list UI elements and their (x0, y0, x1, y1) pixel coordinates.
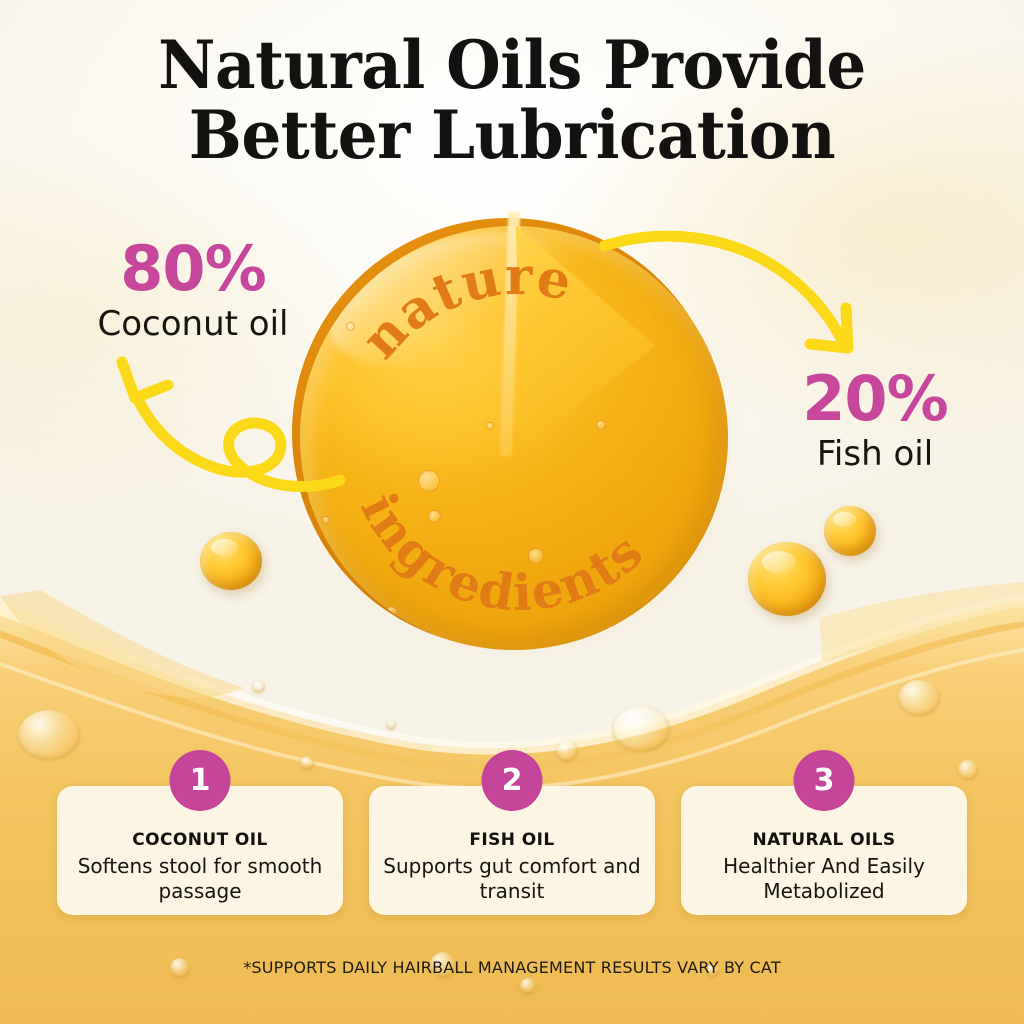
benefit-card-coconut-oil[interactable]: 1 COCONUT OIL Softens stool for smooth p… (57, 786, 343, 915)
oil-bubble (958, 760, 978, 780)
infographic-canvas: Natural Oils Provide Better Lubrication (0, 0, 1024, 1024)
pie-chart: nature ingredients (288, 210, 752, 666)
pie-label-text: nature ingredients (288, 210, 752, 666)
callout-percent-coconut: 80% (58, 238, 328, 300)
title-line-2: Better Lubrication (26, 100, 999, 170)
oil-bubble (252, 680, 265, 693)
card-description: Healthier And Easily Metabolized (689, 854, 959, 904)
benefit-card-fish-oil[interactable]: 2 FISH OIL Supports gut comfort and tran… (369, 786, 655, 915)
card-description: Softens stool for smooth passage (65, 854, 335, 904)
card-title: NATURAL OILS (681, 830, 967, 850)
page-title: Natural Oils Provide Better Lubrication (26, 30, 999, 170)
oil-droplet (748, 542, 826, 616)
title-line-1: Natural Oils Provide (158, 26, 866, 104)
card-description: Supports gut comfort and transit (377, 854, 647, 904)
benefit-cards: 1 COCONUT OIL Softens stool for smooth p… (0, 786, 1024, 926)
callout-coconut-oil: 80% Coconut oil (58, 238, 328, 344)
callout-fish-oil: 20% Fish oil (760, 368, 990, 474)
card-title: COCONUT OIL (57, 830, 343, 850)
oil-bubble (18, 710, 80, 760)
pie-word-bottom: ingredients (349, 484, 655, 623)
card-number-badge: 2 (482, 750, 543, 811)
card-number-badge: 3 (794, 750, 855, 811)
oil-droplet (824, 506, 876, 556)
footer-disclaimer: *SUPPORTS DAILY HAIRBALL MANAGEMENT RESU… (0, 958, 1024, 977)
oil-bubble (556, 740, 578, 762)
card-title: FISH OIL (369, 830, 655, 850)
oil-bubble (612, 706, 670, 752)
oil-droplet (200, 532, 262, 590)
callout-label-coconut: Coconut oil (58, 304, 328, 344)
oil-bubble (386, 720, 396, 730)
callout-label-fish: Fish oil (760, 434, 990, 474)
card-number-badge: 1 (170, 750, 231, 811)
oil-bubble (300, 756, 314, 770)
benefit-card-natural-oils[interactable]: 3 NATURAL OILS Healthier And Easily Meta… (681, 786, 967, 915)
pie-word-top: nature (350, 246, 579, 370)
callout-percent-fish: 20% (760, 368, 990, 430)
oil-bubble (520, 978, 536, 994)
oil-bubble (898, 680, 940, 716)
